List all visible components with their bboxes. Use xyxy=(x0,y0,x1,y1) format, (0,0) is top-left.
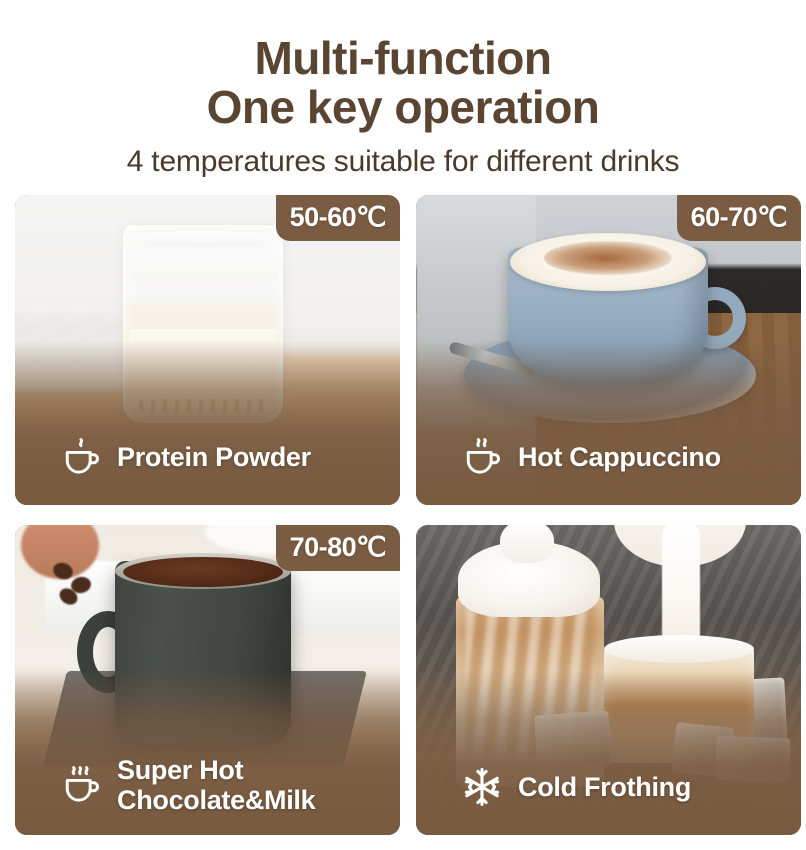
hot-chocolate-liquid xyxy=(123,557,283,587)
page-title-line-1: Multi-function xyxy=(0,34,806,83)
milk-pour-stream xyxy=(662,525,700,651)
header: Multi-function One key operation 4 tempe… xyxy=(0,0,806,179)
panel-caption: Protein Powder xyxy=(59,435,311,479)
page-subtitle: 4 temperatures suitable for different dr… xyxy=(0,145,806,179)
cold-foam-layer xyxy=(604,635,754,663)
panel-caption: Cold Frothing xyxy=(460,765,691,809)
bottom-scrim xyxy=(416,340,801,505)
promo-page: Multi-function One key operation 4 tempe… xyxy=(0,0,806,850)
panel-protein-powder[interactable]: 50-60℃ Protein Powder xyxy=(15,195,400,505)
bottom-scrim xyxy=(416,670,801,835)
steaming-cup-three-wisps-icon xyxy=(59,763,103,807)
panel-caption: Super Hot Chocolate&Milk xyxy=(59,755,315,815)
panel-cold-frothing[interactable]: Cold Frothing xyxy=(416,525,801,835)
whipped-cream-top xyxy=(458,541,600,617)
page-title-line-2: One key operation xyxy=(0,83,806,132)
temperature-badge: 50-60℃ xyxy=(276,195,400,241)
drink-panel-grid: 50-60℃ Protein Powder xyxy=(15,195,791,835)
caption-text: Protein Powder xyxy=(117,442,311,472)
panel-hot-cappuccino[interactable]: 60-70℃ Hot Cappuccino xyxy=(416,195,801,505)
steaming-cup-two-wisps-icon xyxy=(460,435,504,479)
snowflake-icon xyxy=(460,765,504,809)
caption-text: Hot Cappuccino xyxy=(518,442,721,472)
panel-caption: Hot Cappuccino xyxy=(460,435,721,479)
steaming-cup-one-wisp-icon xyxy=(59,435,103,479)
temperature-badge: 70-80℃ xyxy=(276,525,400,571)
cocoa-dusting xyxy=(544,241,672,275)
bottom-scrim xyxy=(15,340,400,505)
temperature-badge: 60-70℃ xyxy=(677,195,801,241)
panel-super-hot-chocolate-milk[interactable]: 70-80℃ Super Hot Chocolate&Milk xyxy=(15,525,400,835)
caption-text: Cold Frothing xyxy=(518,772,691,802)
caption-text: Super Hot Chocolate&Milk xyxy=(117,755,315,815)
